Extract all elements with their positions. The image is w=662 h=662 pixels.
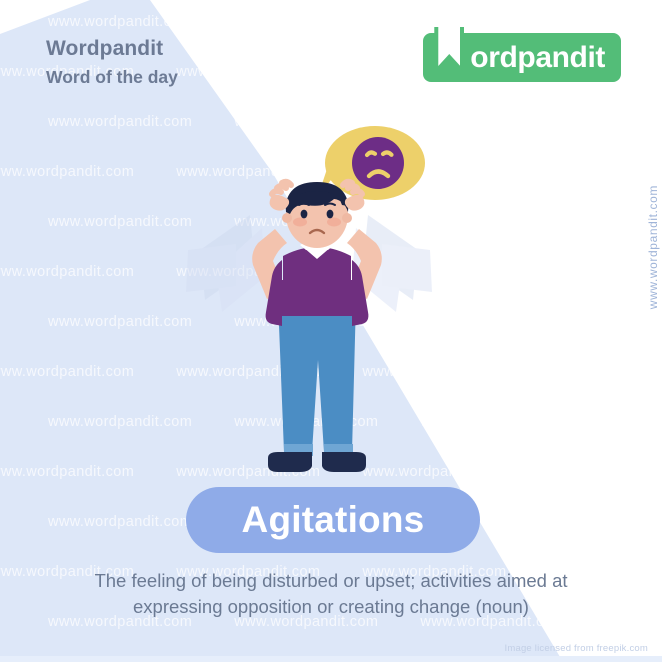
brand-block: Wordpandit Word of the day xyxy=(46,36,178,88)
bookmark-inner-icon xyxy=(438,26,460,66)
image-credit: Image licensed from freepik.com xyxy=(505,643,648,654)
word-term: Agitations xyxy=(242,499,425,541)
word-of-the-day-card: www.wordpandit.comwww.wordpandit.comwww.… xyxy=(0,0,662,662)
wordpandit-logo[interactable]: ordpandit xyxy=(423,33,621,82)
brand-subtitle: Word of the day xyxy=(46,67,178,88)
word-badge: Agitations xyxy=(186,487,480,553)
brand-title: Wordpandit xyxy=(46,36,178,61)
vertical-watermark: www.wordpandit.com xyxy=(646,185,660,309)
background-bottom-strip xyxy=(0,656,662,662)
word-definition: The feeling of being disturbed or upset;… xyxy=(50,568,612,621)
logo-text: ordpandit xyxy=(470,43,605,73)
